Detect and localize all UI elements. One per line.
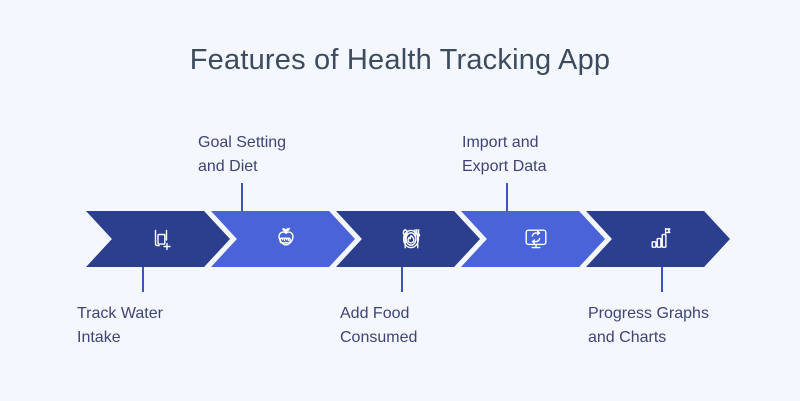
water-glass-plus-icon xyxy=(146,224,176,254)
step-label-progress-graphs-and-charts: Progress Graphs and Charts xyxy=(588,302,758,350)
monitor-sync-icon xyxy=(521,224,551,254)
connector-line-step-2 xyxy=(241,183,243,213)
connector-line-step-5 xyxy=(661,264,663,292)
step-label-track-water-intake: Track Water Intake xyxy=(77,302,227,350)
step-label-add-food-consumed: Add Food Consumed xyxy=(340,302,490,350)
chevron-step-1[interactable] xyxy=(86,211,230,267)
chevron-step-5[interactable] xyxy=(586,211,730,267)
step-label-import-and-export-data: Import and Export Data xyxy=(462,131,612,179)
chevron-strip xyxy=(86,211,714,267)
chevron-step-4[interactable] xyxy=(461,211,605,267)
bar-chart-flag-icon xyxy=(646,224,676,254)
apple-measuring-tape-icon xyxy=(271,224,301,254)
infographic-canvas: Features of Health Tracking App xyxy=(0,0,800,401)
connector-line-step-3 xyxy=(401,264,403,292)
connector-line-step-1 xyxy=(142,264,144,292)
page-title: Features of Health Tracking App xyxy=(0,44,800,77)
chevron-step-2[interactable] xyxy=(211,211,355,267)
chevron-step-3[interactable] xyxy=(336,211,480,267)
connector-line-step-4 xyxy=(506,183,508,213)
step-label-goal-setting-and-diet: Goal Setting and Diet xyxy=(198,131,348,179)
plate-fork-spoon-flame-icon xyxy=(396,224,426,254)
